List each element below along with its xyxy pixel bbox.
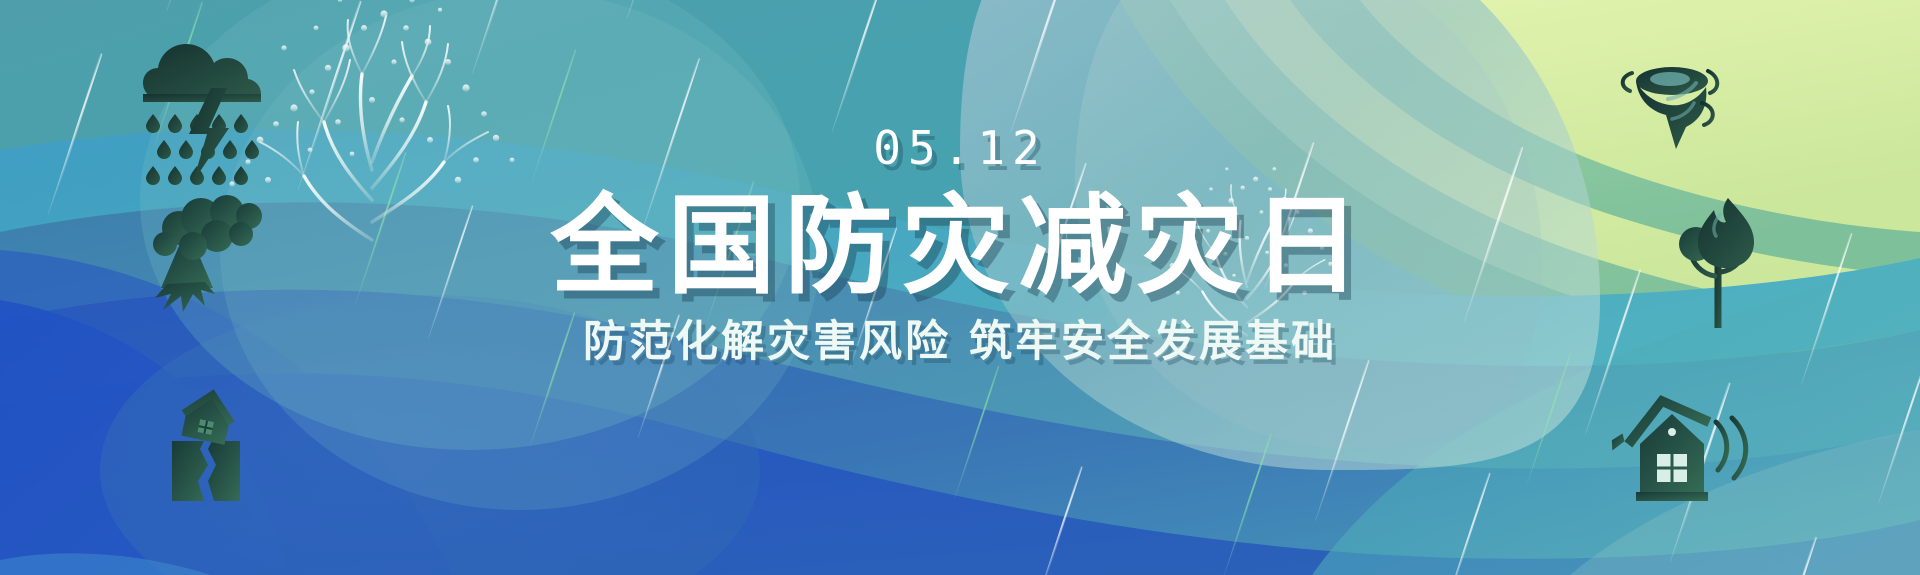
typhoon-house-icon — [1602, 385, 1746, 501]
earthquake-house-icon — [172, 384, 240, 501]
disaster-icon-group — [0, 0, 1920, 575]
rainstorm-cloud-icon — [143, 44, 261, 185]
volcano-icon — [153, 195, 262, 312]
tornado-icon — [1623, 67, 1718, 149]
disaster-prevention-day-banner: 05.12 全国防灾减灾日 防范化解灾害风险 筑牢安全发展基础 — [0, 0, 1920, 575]
wildfire-tree-icon — [1679, 198, 1754, 328]
